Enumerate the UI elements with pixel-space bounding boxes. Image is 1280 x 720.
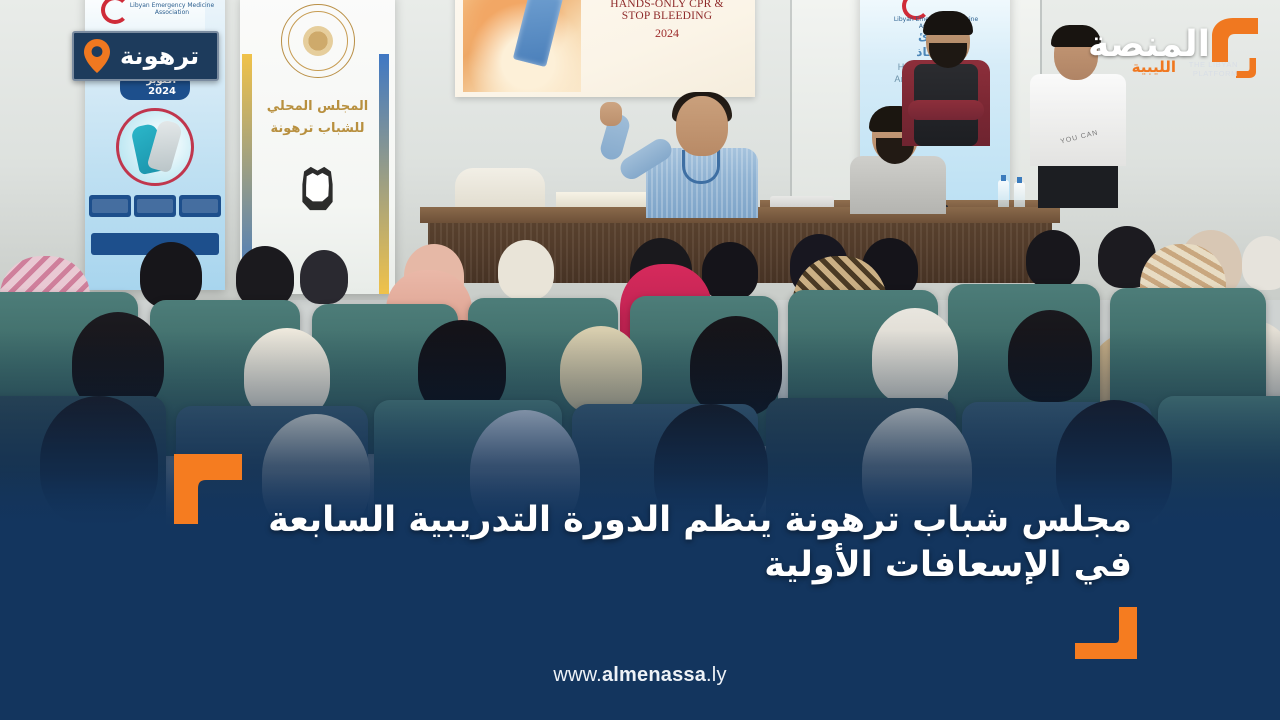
news-card: وأيقاف النزيف HANDS-ONLY CPR & STOP BLEE… <box>0 0 1280 720</box>
person-standing-vest <box>900 16 992 146</box>
screen-year: 2024 <box>585 26 749 41</box>
website-prefix: www. <box>553 664 602 686</box>
council-title-line-2: للشباب ترهونة <box>240 120 395 139</box>
orange-corner-icon <box>1075 607 1137 659</box>
projection-screen: وأيقاف النزيف HANDS-ONLY CPR & STOP BLEE… <box>455 0 755 97</box>
standing-crossed-arms <box>908 100 984 120</box>
person-speaker <box>640 96 758 216</box>
hands-illustration-icon <box>116 108 194 186</box>
attendee-head <box>300 250 348 304</box>
logo-english-text: THE LIBYAN PLATFORM <box>1174 60 1238 79</box>
speaker-head <box>676 96 728 156</box>
map-pin-icon <box>84 39 110 73</box>
headline-text: مجلس شباب ترهونة ينظم الدورة التدريبية ا… <box>220 498 1132 588</box>
attendee-head <box>702 242 758 300</box>
projection-text: وأيقاف النزيف HANDS-ONLY CPR & STOP BLEE… <box>585 0 749 41</box>
banner-left-org: Libyan Emergency Medicine Association <box>127 2 217 16</box>
attendee-head <box>236 246 294 308</box>
location-badge[interactable]: ترهونة <box>72 31 219 81</box>
logo-english-line-2: PLATFORM <box>1193 69 1238 78</box>
screen-line-2: STOP BLEEDING <box>585 10 749 22</box>
logo-arabic-subtext: الليبية <box>1132 58 1176 76</box>
council-seal-icon <box>281 4 355 78</box>
council-title-line-1: المجلس المحلي <box>240 98 395 117</box>
attendee-head <box>140 242 202 308</box>
standing-hair <box>923 11 973 35</box>
attendee-head <box>498 240 554 300</box>
website-url[interactable]: www.almenassa.ly <box>0 664 1280 687</box>
cpr-illustration <box>463 0 581 92</box>
site-logo[interactable]: المنصة الليبية THE LIBYAN PLATFORM <box>1072 6 1262 92</box>
speaker-raised-hand <box>600 102 622 126</box>
website-tld: .ly <box>706 664 727 686</box>
tshirt-print-text: YOU CAN <box>1060 129 1099 145</box>
location-label: ترهونة <box>120 42 199 70</box>
attendee-head <box>1026 230 1080 288</box>
logo-mark-icon <box>1208 16 1260 64</box>
website-name: almenassa <box>602 664 706 686</box>
attendee-head <box>1242 236 1280 290</box>
lema-logo-icon <box>900 0 934 16</box>
logo-english-line-1: THE LIBYAN <box>1189 60 1238 69</box>
screen-line-1: HANDS-ONLY CPR & <box>585 0 749 10</box>
